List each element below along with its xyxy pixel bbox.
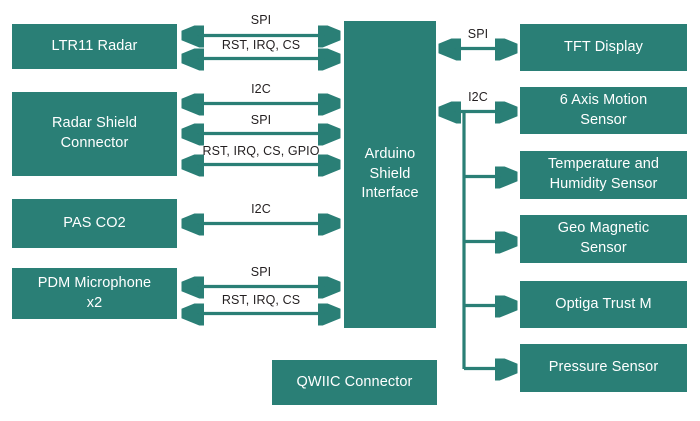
- block-label: PAS CO2: [18, 214, 171, 234]
- block-label: TFT Display: [526, 38, 681, 58]
- label-shield-i2c: I2C: [184, 82, 338, 96]
- block-label: Temperature and Humidity Sensor: [526, 155, 681, 194]
- label-shield-ctrl: RST, IRQ, CS, GPIO: [180, 144, 342, 158]
- block-label: Geo Magnetic Sensor: [526, 219, 681, 258]
- block-temp-humidity-sensor[interactable]: Temperature and Humidity Sensor: [520, 151, 687, 199]
- block-qwiic-connector[interactable]: QWIIC Connector: [272, 360, 437, 405]
- label-shield-spi: SPI: [184, 113, 338, 127]
- block-label: Radar Shield Connector: [18, 114, 171, 153]
- block-optiga-trust-m[interactable]: Optiga Trust M: [520, 281, 687, 328]
- block-diagram: LTR11 Radar Radar Shield Connector PAS C…: [0, 0, 700, 421]
- block-label: 6 Axis Motion Sensor: [526, 91, 681, 130]
- block-label: PDM Microphone x2: [18, 274, 171, 313]
- label-pasco2-i2c: I2C: [184, 202, 338, 216]
- block-label: Pressure Sensor: [526, 358, 681, 378]
- block-label: LTR11 Radar: [18, 37, 171, 57]
- label-pdm-ctrl: RST, IRQ, CS: [184, 293, 338, 307]
- block-label: QWIIC Connector: [278, 373, 431, 393]
- block-pdm-microphone[interactable]: PDM Microphone x2: [12, 268, 177, 319]
- block-ltr11-radar[interactable]: LTR11 Radar: [12, 24, 177, 69]
- label-ltr11-ctrl: RST, IRQ, CS: [184, 38, 338, 52]
- block-arduino-shield-interface[interactable]: Arduino Shield Interface: [344, 21, 436, 328]
- label-i2c-bus: I2C: [441, 90, 515, 104]
- label-tft-spi: SPI: [441, 27, 515, 41]
- block-pas-co2[interactable]: PAS CO2: [12, 199, 177, 248]
- block-motion-sensor[interactable]: 6 Axis Motion Sensor: [520, 87, 687, 134]
- block-geo-magnetic-sensor[interactable]: Geo Magnetic Sensor: [520, 215, 687, 263]
- label-ltr11-spi: SPI: [184, 13, 338, 27]
- block-pressure-sensor[interactable]: Pressure Sensor: [520, 344, 687, 392]
- block-radar-shield-connector[interactable]: Radar Shield Connector: [12, 92, 177, 176]
- block-tft-display[interactable]: TFT Display: [520, 24, 687, 71]
- block-label: Optiga Trust M: [526, 295, 681, 315]
- block-label: Arduino Shield Interface: [350, 145, 430, 204]
- label-pdm-spi: SPI: [184, 265, 338, 279]
